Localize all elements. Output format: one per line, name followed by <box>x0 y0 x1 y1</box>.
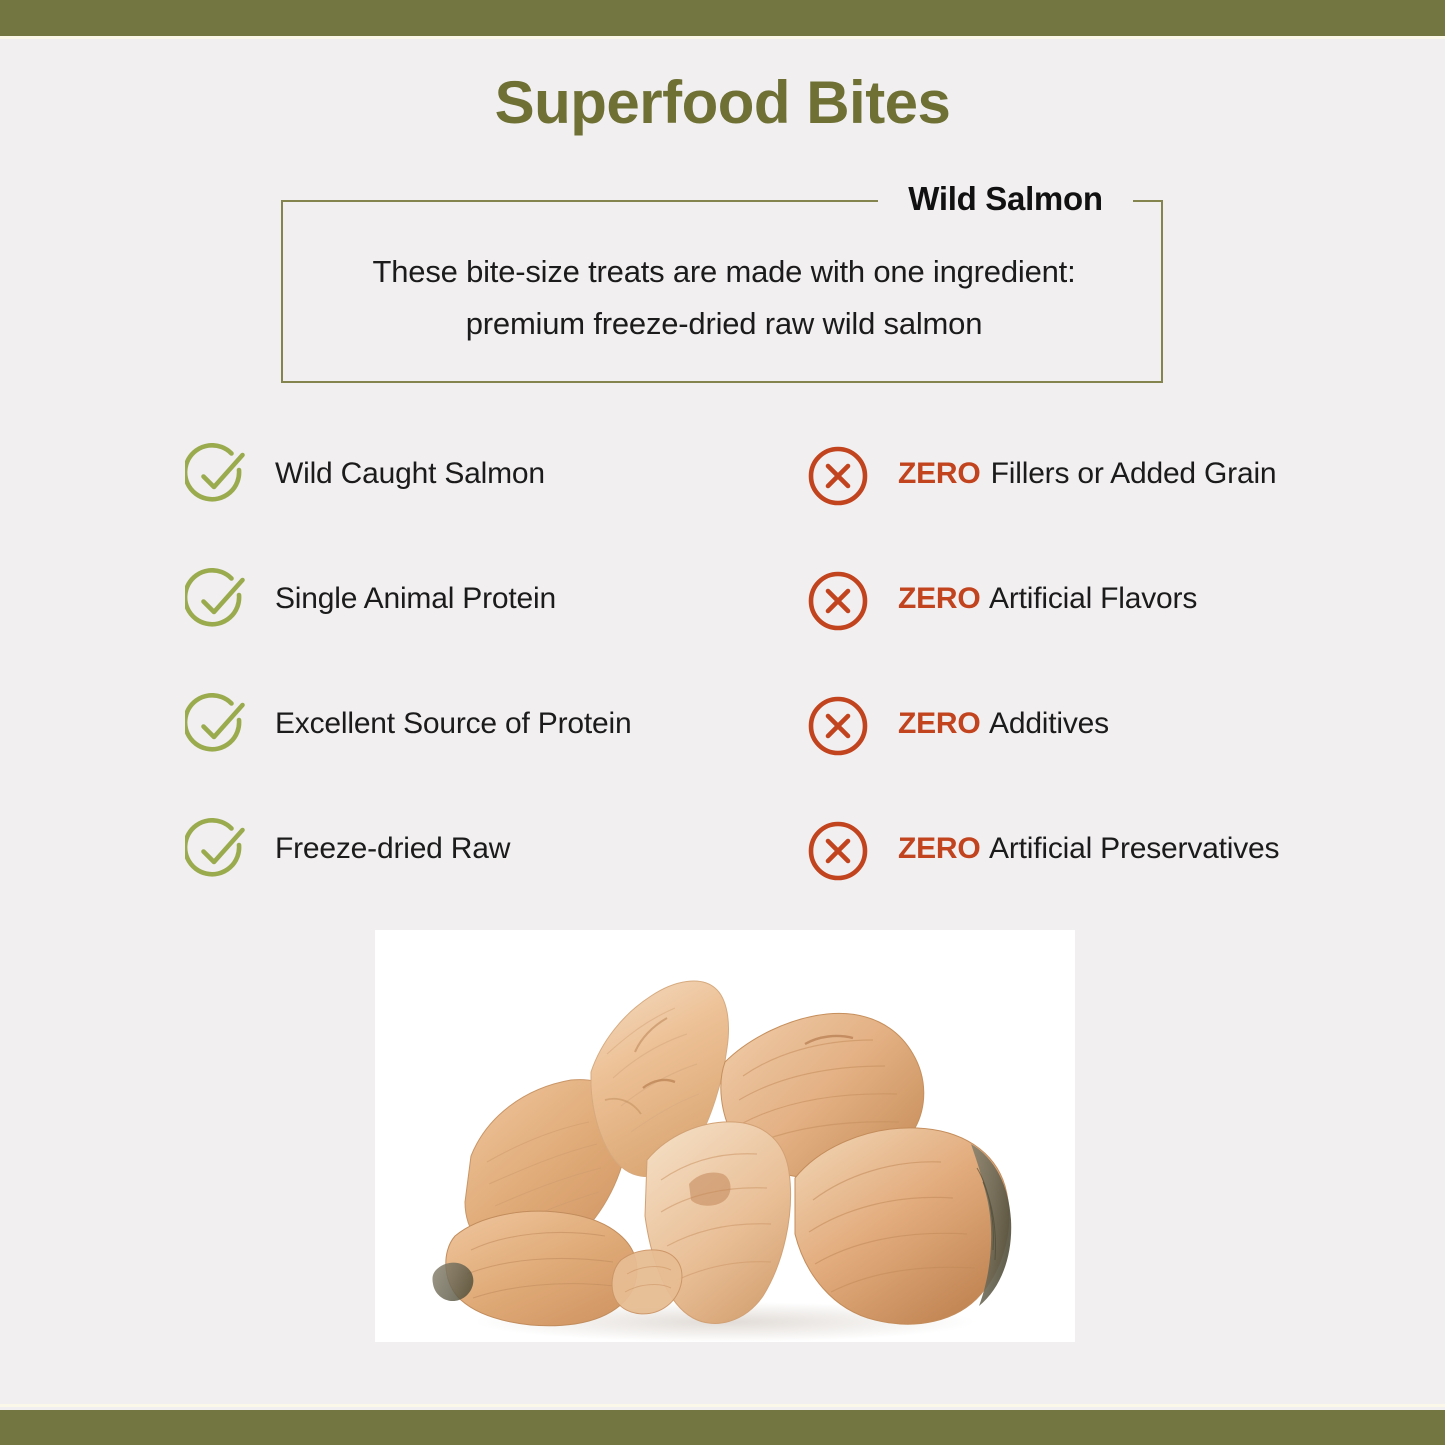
product-variant-label: Wild Salmon <box>878 180 1132 218</box>
list-item-label: Wild Caught Salmon <box>275 457 545 491</box>
description-line-2: premium freeze-dried raw wild salmon <box>283 306 1165 342</box>
check-circle-icon <box>185 443 251 509</box>
x-circle-icon <box>805 443 871 509</box>
benefits-list: Wild Caught Salmon Single Animal Protein… <box>185 443 785 943</box>
list-item-label: ZERO Additives <box>898 707 1109 741</box>
list-item: Single Animal Protein <box>185 568 785 693</box>
list-item-label: Single Animal Protein <box>275 582 556 616</box>
list-item-label: Freeze-dried Raw <box>275 832 510 866</box>
x-circle-icon <box>805 693 871 759</box>
check-circle-icon <box>185 818 251 884</box>
zero-emphasis: ZERO <box>898 582 981 615</box>
list-item: ZERO Additives <box>805 693 1365 818</box>
list-item: ZERO Fillers or Added Grain <box>805 443 1365 568</box>
list-item-label: ZERO Fillers or Added Grain <box>898 457 1276 491</box>
bottom-hairline <box>0 1404 1445 1407</box>
product-infographic: Superfood Bites Wild Salmon These bite-s… <box>0 0 1445 1445</box>
top-olive-bar <box>0 0 1445 36</box>
top-hairline <box>0 36 1445 39</box>
x-circle-icon <box>805 818 871 884</box>
list-item-text: Additives <box>983 707 1109 740</box>
zero-emphasis: ZERO <box>898 832 981 865</box>
list-item-text: Artificial Flavors <box>983 582 1198 615</box>
exclusions-list: ZERO Fillers or Added Grain ZERO Artific… <box>805 443 1365 943</box>
zero-emphasis: ZERO <box>898 707 981 740</box>
list-item-label: ZERO Artificial Flavors <box>898 582 1197 616</box>
list-item: Excellent Source of Protein <box>185 693 785 818</box>
check-circle-icon <box>185 693 251 759</box>
x-circle-icon <box>805 568 871 634</box>
list-item: ZERO Artificial Preservatives <box>805 818 1365 943</box>
list-item: Wild Caught Salmon <box>185 443 785 568</box>
list-item-text: Fillers or Added Grain <box>983 457 1277 490</box>
bottom-olive-bar <box>0 1410 1445 1445</box>
zero-emphasis: ZERO <box>898 457 981 490</box>
freeze-dried-salmon-chunks-photo <box>375 930 1075 1342</box>
list-item-label: ZERO Artificial Preservatives <box>898 832 1279 866</box>
description-box-label-wrap: Wild Salmon <box>283 180 1445 218</box>
list-item: Freeze-dried Raw <box>185 818 785 943</box>
page-title: Superfood Bites <box>0 68 1445 137</box>
list-item-label: Excellent Source of Protein <box>275 707 631 741</box>
description-box: Wild Salmon These bite-size treats are m… <box>281 200 1163 383</box>
list-item: ZERO Artificial Flavors <box>805 568 1365 693</box>
list-item-text: Artificial Preservatives <box>983 832 1280 865</box>
description-line-1: These bite-size treats are made with one… <box>283 254 1165 290</box>
check-circle-icon <box>185 568 251 634</box>
